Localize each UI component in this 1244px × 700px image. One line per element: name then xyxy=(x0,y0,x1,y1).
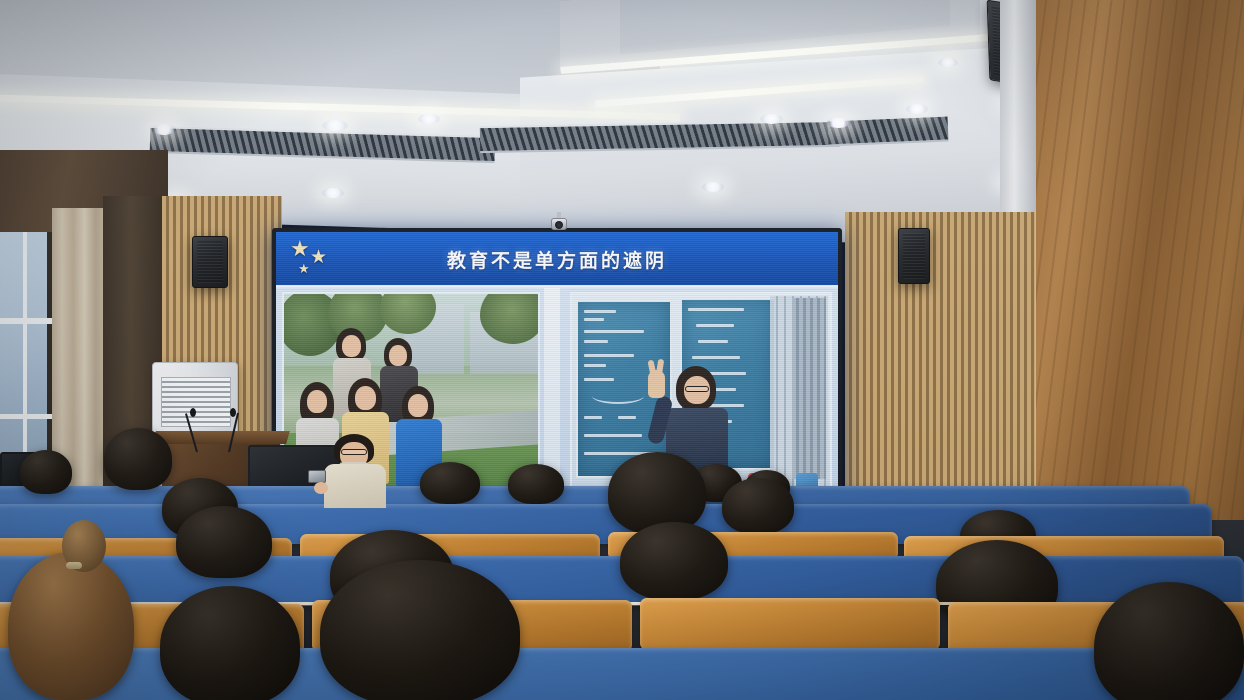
speaker-grille xyxy=(903,233,925,279)
downlight-icon xyxy=(826,118,851,128)
podium-top xyxy=(152,431,290,444)
hair-tie xyxy=(66,562,82,569)
downlight-icon xyxy=(152,124,176,135)
eyeglasses-icon xyxy=(341,449,367,455)
downlight-icon xyxy=(760,114,783,124)
speaker-grille xyxy=(197,241,223,283)
seat-tablet-table[interactable] xyxy=(640,598,940,650)
audience-head xyxy=(20,450,72,494)
audience-head xyxy=(176,506,272,578)
downlight-icon xyxy=(322,188,344,198)
ptz-camera xyxy=(548,212,570,234)
auditorium-photo: ★ ★ ★ 教育不是单方面的遮阴 xyxy=(0,0,1244,700)
downlight-icon xyxy=(322,120,348,131)
ac-louver-upper xyxy=(161,377,231,427)
downlight-icon xyxy=(938,58,958,67)
audience-head xyxy=(722,478,794,534)
presenter-hand xyxy=(314,482,328,494)
classroom-curtain xyxy=(792,298,826,479)
downlight-icon xyxy=(418,114,440,124)
audience-head xyxy=(160,586,300,700)
downlight-icon xyxy=(906,104,928,114)
audience-head xyxy=(508,464,564,504)
audience-head xyxy=(320,560,520,700)
slide-banner: ★ ★ ★ 教育不是单方面的遮阴 xyxy=(276,232,838,288)
audience-head xyxy=(620,522,728,600)
microphone-head-icon xyxy=(190,408,196,417)
phone-icon xyxy=(308,470,326,483)
wall-speaker-left xyxy=(192,236,228,288)
audience-head xyxy=(420,462,480,504)
audience-head xyxy=(104,428,172,490)
slide-title: 教育不是单方面的遮阴 xyxy=(276,246,838,273)
presenter-body xyxy=(324,464,386,508)
audience-head xyxy=(1094,582,1244,700)
wall-speaker-right xyxy=(898,228,930,284)
audience-head-brown xyxy=(8,552,134,700)
microphone-head-icon xyxy=(230,408,236,417)
camera-lens-icon xyxy=(555,221,563,229)
downlight-icon xyxy=(702,182,724,192)
presenter-person xyxy=(322,434,388,506)
eyeglasses-icon xyxy=(685,386,709,392)
audience-head xyxy=(608,452,706,534)
